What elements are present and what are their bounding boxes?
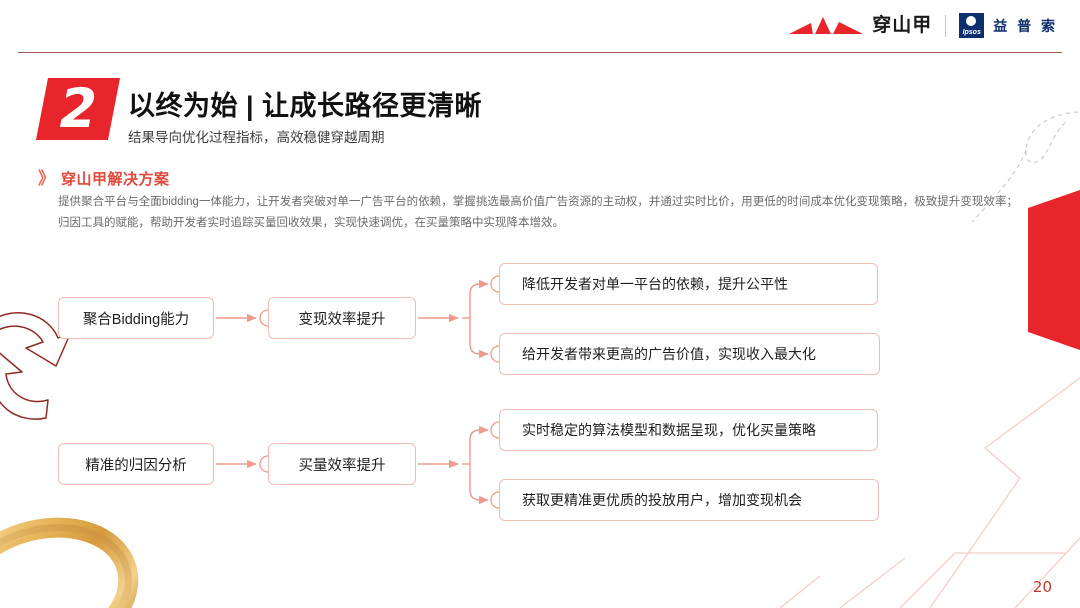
ipsos-dot-icon: [966, 16, 976, 26]
section-number: 2: [36, 78, 120, 140]
header-divider: [18, 52, 1062, 53]
slide-canvas: 穿山甲 Ipsos 益 普 索 2 以终为始 | 让成长路径更清晰 结果导向优化…: [0, 0, 1080, 608]
page-title: 以终为始 | 让成长路径更清晰: [128, 84, 482, 123]
header-bar: 穿山甲 Ipsos 益 普 索: [0, 0, 1080, 53]
solution-heading: 穿山甲解决方案: [61, 168, 170, 189]
ipsos-logo-icon: Ipsos: [959, 13, 984, 38]
node-outcome-2[interactable]: 给开发者带来更高的广告价值，实现收入最大化: [499, 333, 880, 375]
page-number: 20: [1033, 578, 1052, 596]
page-subtitle: 结果导向优化过程指标，高效稳健穿越周期: [128, 126, 385, 146]
brand-name: 穿山甲: [872, 16, 932, 35]
solution-flow-diagram: 聚合Bidding能力 变现效率提升 降低开发者对单一平台的依赖，提升公平性 给…: [0, 250, 1080, 540]
node-source-precise-attribution[interactable]: 精准的归因分析: [58, 443, 214, 485]
node-outcome-1[interactable]: 降低开发者对单一平台的依赖，提升公平性: [499, 263, 878, 305]
brand-divider: [945, 15, 946, 37]
node-middle-buying-efficiency[interactable]: 买量效率提升: [268, 443, 416, 485]
partner-name: 益 普 索: [993, 16, 1058, 36]
node-middle-monetization-efficiency[interactable]: 变现效率提升: [268, 297, 416, 339]
chevron-double-right-icon: 》: [38, 170, 55, 187]
solution-heading-row: 》 穿山甲解决方案: [38, 168, 170, 189]
brand-lockup: 穿山甲 Ipsos 益 普 索: [789, 13, 1058, 38]
node-source-aggregate-bidding[interactable]: 聚合Bidding能力: [58, 297, 214, 339]
ipsos-badge-word: Ipsos: [963, 29, 981, 36]
solution-body-text: 提供聚合平台与全面bidding一体能力，让开发者突破对单一广告平台的依赖，掌握…: [58, 192, 1018, 233]
node-outcome-3[interactable]: 实时稳定的算法模型和数据呈现，优化买量策略: [499, 409, 878, 451]
chuanshanjia-logo-icon: [789, 14, 863, 38]
node-outcome-4[interactable]: 获取更精准更优质的投放用户，增加变现机会: [499, 479, 879, 521]
